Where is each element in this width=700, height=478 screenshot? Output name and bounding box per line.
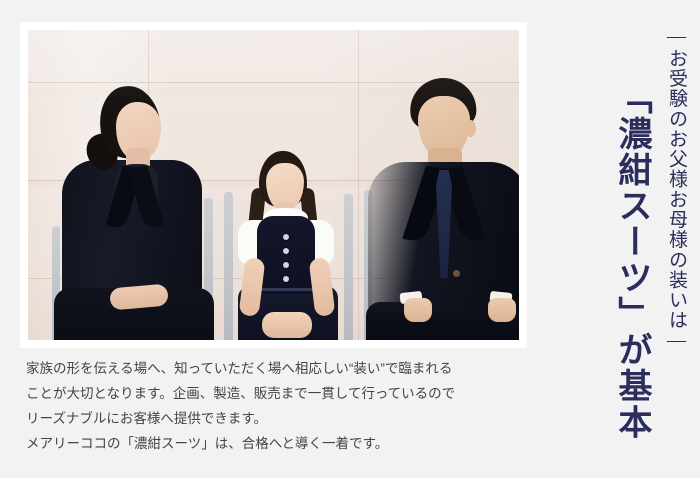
family-photo — [28, 30, 519, 340]
description-line: ことが大切となります。企画、製造、販売まで一貫して行っているので — [26, 381, 526, 406]
father-hand-left — [404, 298, 432, 322]
daughter-button — [283, 234, 289, 240]
daughter-button — [283, 248, 289, 254]
father-hand-right — [488, 298, 516, 322]
daughter-button — [283, 276, 289, 282]
daughter-waist-seam — [257, 288, 317, 291]
description-text-block: 家族の形を伝える場へ、知っていただく場へ相応しい“装い”で臨まれる ことが大切と… — [26, 356, 526, 456]
father-ear — [465, 120, 476, 137]
father-jacket-button — [453, 270, 460, 277]
daughter-hands — [262, 312, 312, 338]
description-line: メアリーココの「濃紺スーツ」は、合格へと導く一着です。 — [26, 431, 526, 456]
page-root: —お受験のお父様お母様の装いは— 「濃紺スーツ」が基本 家族の形を伝える場へ、知… — [0, 0, 700, 478]
daughter-pinafore-bodice — [257, 216, 315, 294]
vertical-headline-subtitle: —お受験のお父様お母様の装いは— — [667, 26, 686, 352]
daughter-button — [283, 262, 289, 268]
vertical-headline-main: 「濃紺スーツ」が基本 — [614, 80, 648, 440]
wall-seam-line — [358, 30, 359, 340]
chair-frame — [224, 192, 233, 340]
chair-frame — [344, 194, 353, 340]
family-photo-frame — [20, 22, 527, 348]
description-line: リーズナブルにお客様へ提供できます。 — [26, 406, 526, 431]
description-line: 家族の形を伝える場へ、知っていただく場へ相応しい“装い”で臨まれる — [26, 356, 526, 381]
